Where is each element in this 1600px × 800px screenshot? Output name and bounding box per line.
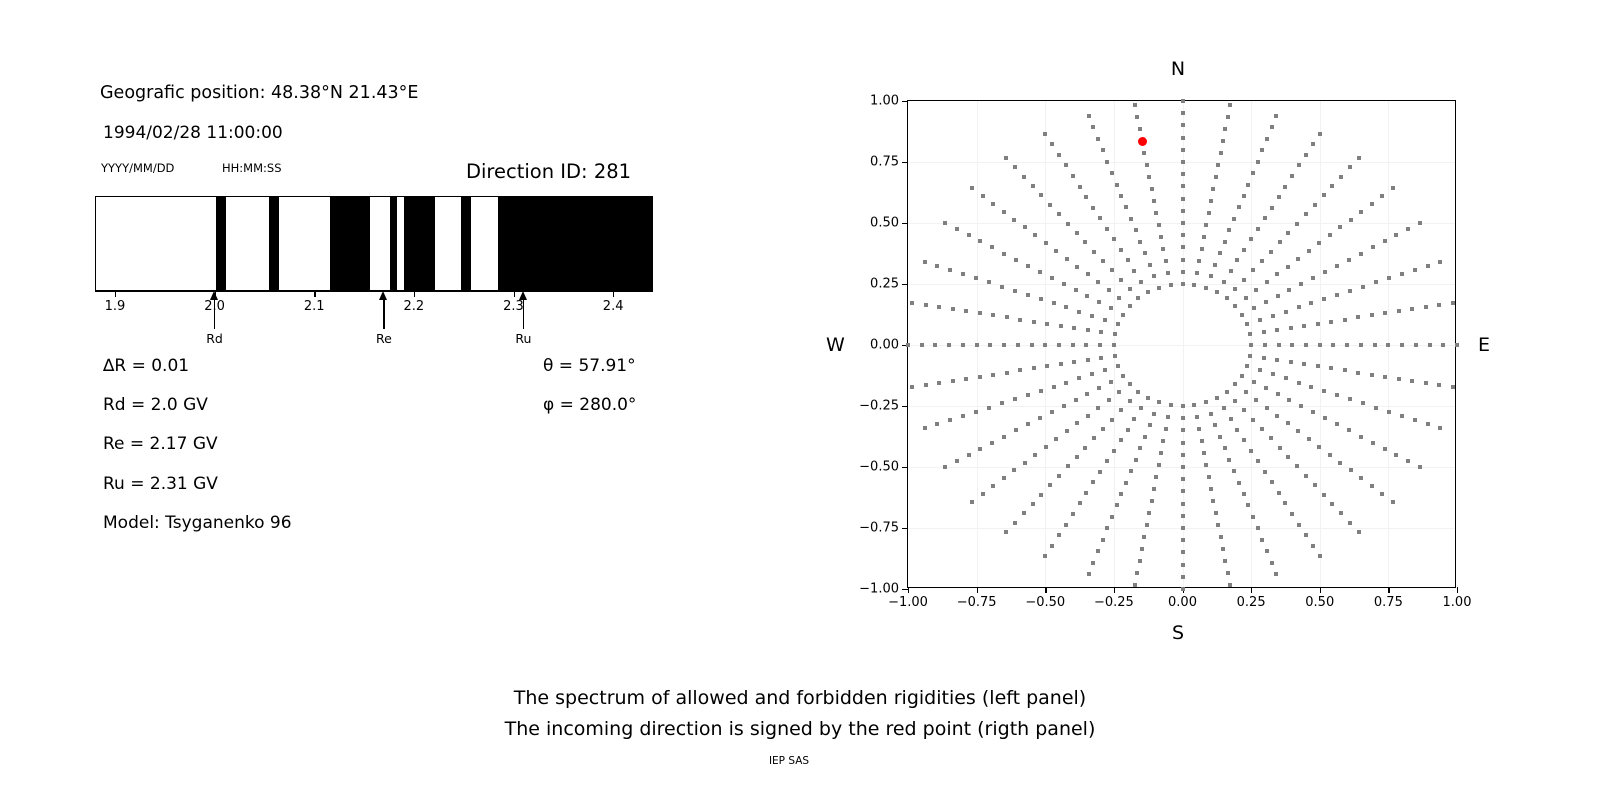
direction-point xyxy=(1075,265,1079,269)
rigidity-marker-label: Ru xyxy=(515,331,531,346)
direction-point xyxy=(1318,132,1322,136)
direction-point xyxy=(1045,322,1049,326)
direction-point xyxy=(1209,274,1213,278)
direction-point xyxy=(1098,216,1102,220)
direction-point xyxy=(1166,415,1170,419)
direction-point xyxy=(1099,330,1103,334)
direction-point xyxy=(1254,398,1258,402)
direction-point xyxy=(1152,199,1156,203)
direction-point xyxy=(1105,160,1109,164)
direction-point xyxy=(1249,343,1253,347)
direction-point xyxy=(1297,381,1301,385)
direction-point xyxy=(1072,326,1076,330)
direction-point xyxy=(1197,427,1201,431)
direction-point xyxy=(1244,296,1248,300)
direction-point xyxy=(1117,390,1121,394)
direction-point xyxy=(1307,437,1311,441)
direction-point xyxy=(1121,374,1125,378)
direction-point xyxy=(1000,401,1004,405)
direction-point xyxy=(1129,217,1133,221)
direction-point xyxy=(1290,343,1294,347)
x-axis-tick xyxy=(1388,587,1389,593)
direction-point xyxy=(1181,111,1185,115)
direction-point xyxy=(1085,392,1089,396)
arrow-shaft xyxy=(523,298,524,329)
direction-point xyxy=(1338,225,1342,229)
direction-point xyxy=(1311,276,1315,280)
direction-point xyxy=(1039,297,1043,301)
direction-point xyxy=(1413,418,1417,422)
direction-point xyxy=(990,441,994,445)
date-format-hint: YYYY/MM/DD xyxy=(101,161,174,175)
direction-point xyxy=(1309,385,1313,389)
direction-point xyxy=(975,343,979,347)
direction-point xyxy=(1242,438,1246,442)
direction-point xyxy=(1091,125,1095,129)
direction-point xyxy=(1316,364,1320,368)
direction-point xyxy=(1050,276,1054,280)
direction-point xyxy=(1101,538,1105,542)
direction-point xyxy=(991,202,995,206)
direction-point xyxy=(1357,530,1361,534)
direction-point xyxy=(1278,446,1282,450)
direction-point xyxy=(1150,187,1154,191)
direction-point xyxy=(1142,535,1146,539)
direction-point xyxy=(1113,354,1117,358)
direction-point xyxy=(1133,103,1137,107)
forbidden-band xyxy=(216,197,226,290)
direction-point xyxy=(1441,343,1445,347)
direction-point xyxy=(1233,287,1237,291)
direction-point xyxy=(1254,288,1258,292)
y-axis-tick-label: 0.25 xyxy=(870,277,899,292)
direction-point xyxy=(1226,571,1230,575)
y-axis-tick-label: 1.00 xyxy=(870,94,899,109)
direction-point xyxy=(1209,487,1213,491)
direction-point xyxy=(1359,252,1363,256)
direction-point xyxy=(1329,366,1333,370)
direction-point xyxy=(1335,293,1339,297)
direction-point xyxy=(1207,475,1211,479)
parameter-item: Ru = 2.31 GV xyxy=(103,474,218,494)
direction-point xyxy=(923,260,927,264)
direction-point xyxy=(1322,493,1326,497)
direction-point xyxy=(920,343,924,347)
direction-point xyxy=(1110,268,1114,272)
direction-point xyxy=(1132,417,1136,421)
direction-point xyxy=(1240,374,1244,378)
direction-point xyxy=(1270,206,1274,210)
direction-point xyxy=(1287,288,1291,292)
direction-point xyxy=(1348,289,1352,293)
parameter-item: ∆R = 0.01 xyxy=(103,356,189,376)
direction-point xyxy=(1265,280,1269,284)
direction-point xyxy=(1145,523,1149,527)
direction-point xyxy=(1050,410,1054,414)
direction-point xyxy=(1322,389,1326,393)
direction-point xyxy=(1002,343,1006,347)
direction-point xyxy=(1297,163,1301,167)
direction-point xyxy=(1136,296,1140,300)
direction-point xyxy=(1181,99,1185,103)
direction-point xyxy=(1233,304,1237,308)
compass-label-north: N xyxy=(1171,58,1185,80)
direction-point xyxy=(1148,263,1152,267)
direction-point xyxy=(1026,293,1030,297)
direction-point xyxy=(1302,324,1306,328)
direction-point xyxy=(1260,538,1264,542)
direction-point xyxy=(1251,515,1255,519)
direction-point xyxy=(1181,502,1185,506)
direction-point xyxy=(1251,418,1255,422)
direction-point xyxy=(1142,151,1146,155)
direction-point xyxy=(1066,222,1070,226)
direction-point xyxy=(951,379,955,383)
direction-point xyxy=(1283,185,1287,189)
direction-point xyxy=(1258,318,1262,322)
direction-point xyxy=(961,414,965,418)
direction-point xyxy=(1263,343,1267,347)
x-axis-tick xyxy=(1457,587,1458,593)
direction-point xyxy=(1339,175,1343,179)
direction-point xyxy=(1138,240,1142,244)
direction-point xyxy=(935,422,939,426)
direction-point xyxy=(1097,300,1101,304)
direction-point xyxy=(1269,436,1273,440)
y-axis-tick xyxy=(902,101,908,102)
direction-point xyxy=(1126,258,1130,262)
direction-point xyxy=(1387,410,1391,414)
direction-point xyxy=(1426,422,1430,426)
direction-point xyxy=(955,227,959,231)
direction-point xyxy=(1361,285,1365,289)
direction-point xyxy=(1242,248,1246,252)
direction-point xyxy=(1304,153,1308,157)
direction-point xyxy=(1242,408,1246,412)
direction-point xyxy=(961,343,965,347)
direction-point xyxy=(1181,538,1185,542)
rigidity-marker-re: Re xyxy=(361,291,407,351)
direction-point xyxy=(1221,547,1225,551)
direction-point xyxy=(1223,240,1227,244)
x-axis-tick xyxy=(1114,587,1115,593)
direction-point xyxy=(1283,501,1287,505)
direction-point xyxy=(1214,175,1218,179)
direction-point xyxy=(1256,227,1260,231)
direction-point xyxy=(1265,406,1269,410)
direction-point xyxy=(1181,123,1185,127)
direction-point xyxy=(1256,526,1260,530)
direction-point xyxy=(1075,421,1079,425)
direction-point xyxy=(1181,160,1185,164)
direction-point xyxy=(1057,474,1061,478)
direction-point xyxy=(970,500,974,504)
direction-point xyxy=(1428,343,1432,347)
direction-point xyxy=(1275,414,1279,418)
rigidity-marker-rd: Rd xyxy=(192,291,238,351)
direction-point xyxy=(1105,227,1109,231)
direction-point xyxy=(1107,398,1111,402)
direction-point xyxy=(1181,233,1185,237)
direction-point xyxy=(1181,587,1185,591)
direction-point xyxy=(1318,343,1322,347)
direction-point xyxy=(947,343,951,347)
direction-point xyxy=(1286,265,1290,269)
direction-point xyxy=(1277,195,1281,199)
direction-point xyxy=(1164,259,1168,263)
direction-point xyxy=(1275,328,1279,332)
datetime-label: 1994/02/28 11:00:00 xyxy=(103,123,283,143)
direction-point xyxy=(1135,571,1139,575)
direction-point xyxy=(1237,205,1241,209)
direction-point xyxy=(1348,165,1352,169)
direction-point xyxy=(1013,397,1017,401)
direction-point xyxy=(1115,183,1119,187)
direction-point xyxy=(1128,382,1132,386)
direction-point xyxy=(1152,274,1156,278)
direction-point xyxy=(988,343,992,347)
direction-point xyxy=(1139,280,1143,284)
direction-point xyxy=(1022,175,1026,179)
direction-point xyxy=(1116,322,1120,326)
y-axis-tick xyxy=(902,406,908,407)
direction-point xyxy=(1062,282,1066,286)
direction-point xyxy=(1235,428,1239,432)
direction-point xyxy=(955,459,959,463)
direction-point xyxy=(1147,511,1151,515)
direction-point xyxy=(1099,356,1103,360)
direction-point xyxy=(1072,360,1076,364)
arrow-shaft xyxy=(214,298,215,329)
direction-point xyxy=(1101,427,1105,431)
direction-point xyxy=(1181,245,1185,249)
direction-point xyxy=(1091,480,1095,484)
direction-point xyxy=(1370,313,1374,317)
direction-point xyxy=(943,221,947,225)
direction-point xyxy=(1221,139,1225,143)
compass-label-west: W xyxy=(826,334,845,356)
direction-point xyxy=(1129,469,1133,473)
direction-point xyxy=(1169,283,1173,287)
direction-point xyxy=(1065,429,1069,433)
direction-point xyxy=(1263,216,1267,220)
direction-point xyxy=(981,194,985,198)
direction-point xyxy=(1110,418,1114,422)
direction-point xyxy=(1258,368,1262,372)
direction-point xyxy=(1105,459,1109,463)
direction-point xyxy=(1117,296,1121,300)
direction-point xyxy=(1271,314,1275,318)
direction-point xyxy=(1002,210,1006,214)
direction-point xyxy=(1397,309,1401,313)
direction-point xyxy=(1219,151,1223,155)
parameter-item: Re = 2.17 GV xyxy=(103,434,218,454)
y-axis-tick-label: −0.25 xyxy=(859,399,899,414)
y-axis-tick-label: −0.75 xyxy=(859,521,899,536)
direction-point xyxy=(1216,163,1220,167)
direction-point xyxy=(1275,272,1279,276)
direction-point xyxy=(1133,583,1137,587)
direction-point xyxy=(1154,475,1158,479)
direction-point xyxy=(1414,343,1418,347)
direction-point xyxy=(1222,406,1226,410)
direction-point xyxy=(1044,445,1048,449)
compass-label-east: E xyxy=(1478,334,1490,356)
direction-point xyxy=(1370,484,1374,488)
direction-point xyxy=(1251,171,1255,175)
direction-point xyxy=(1119,248,1123,252)
direction-point xyxy=(1062,404,1066,408)
direction-point xyxy=(1299,282,1303,286)
direction-point xyxy=(1032,366,1036,370)
direction-point xyxy=(1322,193,1326,197)
direction-point xyxy=(1374,280,1378,284)
direction-point xyxy=(1218,435,1222,439)
direction-point xyxy=(1359,210,1363,214)
direction-point xyxy=(1181,465,1185,469)
y-axis-tick-label: −0.50 xyxy=(859,460,899,475)
direction-point xyxy=(1276,392,1280,396)
parameter-item: Rd = 2.0 GV xyxy=(103,395,208,415)
x-axis-tick-label: 0.75 xyxy=(1374,595,1403,610)
direction-point xyxy=(1438,260,1442,264)
direction-point xyxy=(1181,184,1185,188)
direction-point xyxy=(1181,441,1185,445)
direction-point xyxy=(1002,252,1006,256)
direction-point xyxy=(1237,481,1241,485)
direction-point xyxy=(1211,499,1215,503)
direction-point xyxy=(961,272,965,276)
rigidity-spectrum-panel: Geografic position: 48.38°N 21.43°E 1994… xyxy=(0,0,760,680)
direction-point xyxy=(1057,343,1061,347)
direction-point xyxy=(1270,480,1274,484)
direction-point xyxy=(967,233,971,237)
direction-point xyxy=(1071,512,1075,516)
compass-label-south: S xyxy=(1172,622,1184,644)
direction-point xyxy=(1050,544,1054,548)
direction-point xyxy=(1181,563,1185,567)
direction-point xyxy=(1335,422,1339,426)
direction-point xyxy=(1091,206,1095,210)
direction-point xyxy=(1119,278,1123,282)
direction-point xyxy=(1374,406,1378,410)
direction-point xyxy=(1227,458,1231,462)
direction-point xyxy=(1248,354,1252,358)
direction-point xyxy=(1145,163,1149,167)
direction-point xyxy=(1048,483,1052,487)
x-axis-tick xyxy=(908,587,909,593)
direction-point xyxy=(1002,476,1006,480)
direction-point xyxy=(1262,330,1266,334)
direction-point xyxy=(1090,314,1094,318)
x-axis-tick xyxy=(1251,587,1252,593)
direction-point xyxy=(1233,399,1237,403)
direction-point xyxy=(1128,304,1132,308)
direction-point xyxy=(1264,300,1268,304)
direction-point xyxy=(1087,114,1091,118)
direction-point xyxy=(1139,406,1143,410)
direction-point xyxy=(1014,428,1018,432)
direction-point xyxy=(935,264,939,268)
direction-point xyxy=(1195,415,1199,419)
direction-point xyxy=(1232,217,1236,221)
direction-point xyxy=(1383,375,1387,379)
direction-point xyxy=(1115,503,1119,507)
direction-point xyxy=(906,343,910,347)
direction-point xyxy=(1317,445,1321,449)
caption-line-2: The incoming direction is signed by the … xyxy=(505,718,1096,740)
direction-point xyxy=(1050,142,1054,146)
direction-point xyxy=(1086,272,1090,276)
direction-point xyxy=(1215,396,1219,400)
direction-point xyxy=(967,453,971,457)
rigidity-axis-tick xyxy=(314,291,315,297)
direction-point xyxy=(1147,175,1151,179)
direction-point xyxy=(974,410,978,414)
forbidden-band xyxy=(330,197,370,290)
direction-point xyxy=(1394,453,1398,457)
y-axis-tick-label: 0.50 xyxy=(870,216,899,231)
direction-point xyxy=(1225,296,1229,300)
direction-point xyxy=(923,426,927,430)
direction-point xyxy=(1287,398,1291,402)
direction-point xyxy=(1270,125,1274,129)
direction-point xyxy=(964,309,968,313)
direction-point xyxy=(1138,559,1142,563)
direction-point xyxy=(1380,492,1384,496)
direction-point xyxy=(948,268,952,272)
direction-point xyxy=(1039,389,1043,393)
forbidden-band xyxy=(269,197,279,290)
direction-point xyxy=(974,276,978,280)
direction-point xyxy=(1071,343,1075,347)
direction-point xyxy=(1026,264,1030,268)
direction-point xyxy=(1245,322,1249,326)
caption-line-1: The spectrum of allowed and forbidden ri… xyxy=(514,687,1086,709)
direction-point xyxy=(1304,474,1308,478)
direction-point xyxy=(1295,464,1299,468)
direction-point xyxy=(1112,343,1116,347)
direction-point xyxy=(1311,544,1315,548)
direction-point xyxy=(1152,487,1156,491)
direction-point xyxy=(1271,372,1275,376)
direction-point xyxy=(1391,186,1395,190)
arrow-shaft xyxy=(383,298,384,329)
direction-point xyxy=(1207,211,1211,215)
rigidity-axis-tick-label: 2.4 xyxy=(603,299,624,314)
direction-point xyxy=(1251,268,1255,272)
direction-point xyxy=(1317,241,1321,245)
direction-point xyxy=(1016,343,1020,347)
direction-point xyxy=(1345,343,1349,347)
direction-point xyxy=(1204,463,1208,467)
direction-point xyxy=(1394,233,1398,237)
direction-point xyxy=(1260,259,1264,263)
direction-point xyxy=(937,305,941,309)
direction-point xyxy=(1265,549,1269,553)
direction-point xyxy=(1103,318,1107,322)
direction-point xyxy=(1086,414,1090,418)
direction-point xyxy=(933,343,937,347)
direction-point xyxy=(1166,271,1170,275)
direction-point xyxy=(1033,453,1037,457)
direction-point xyxy=(1119,194,1123,198)
direction-point xyxy=(1438,426,1442,430)
direction-point xyxy=(1181,197,1185,201)
direction-point xyxy=(1013,521,1017,525)
direction-point xyxy=(1030,343,1034,347)
direction-point xyxy=(1157,223,1161,227)
